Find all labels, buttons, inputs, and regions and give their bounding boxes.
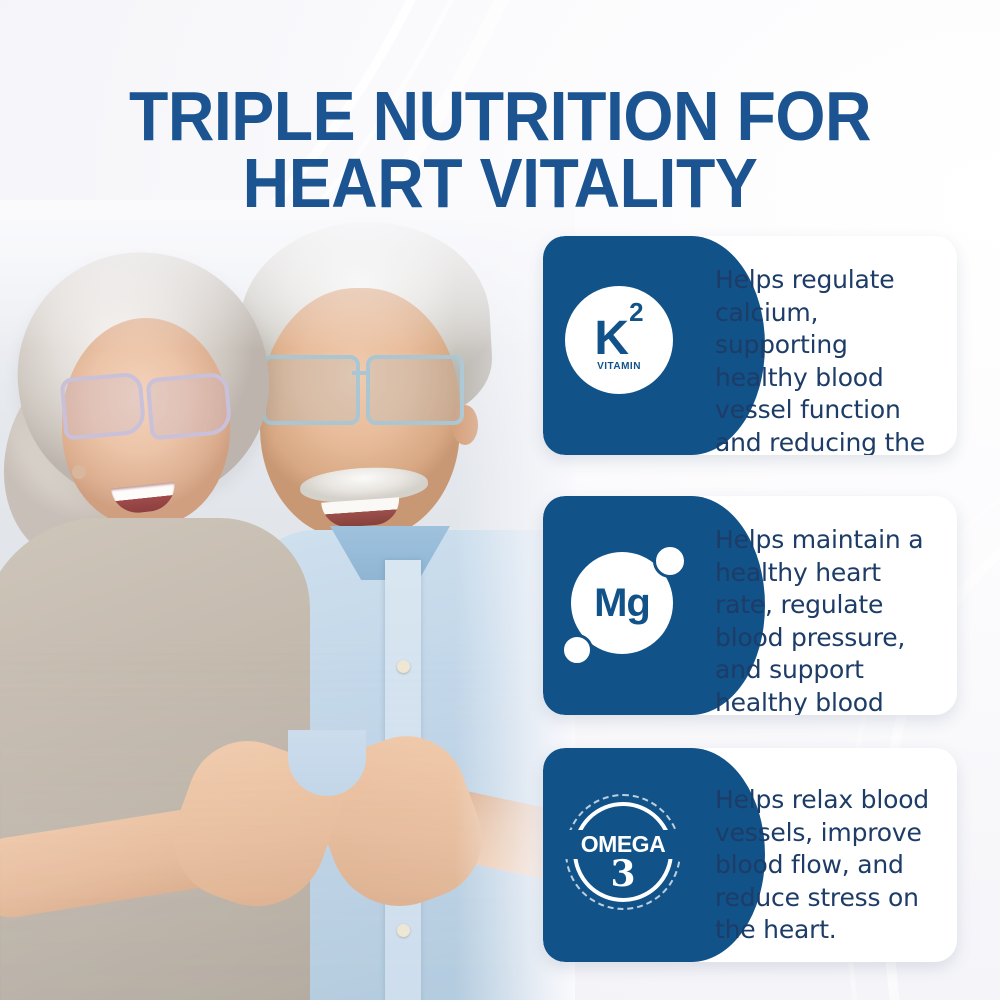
benefit-card-magnesium[interactable]: Mg Helps maintain a healthy heart rate, … [543,496,957,715]
woman-lens-left [59,372,146,441]
benefit-text-magnesium: Helps maintain a healthy heart rate, reg… [715,524,941,715]
omega-3-badge: OMEGA 3 [565,794,681,910]
molecule-dot-icon [653,544,687,578]
benefit-text-vitamin-k2: Helps regulate calcium, supporting healt… [715,264,941,455]
vitamin-k2-symbol: K2 [594,315,643,363]
benefit-card-omega-3[interactable]: OMEGA 3 Helps relax blood vessels, impro… [543,748,957,962]
couple-photo [0,200,575,1000]
woman-lens-right [145,372,232,441]
vitamin-k2-badge: K2 VITAMIN [565,286,673,394]
woman-eyeglasses [62,375,237,435]
photo-top-fade [0,200,575,350]
omega-number: 3 [565,856,681,892]
poster-canvas: TRIPLE NUTRITION FOR HEART VITALITY K2 V… [0,0,1000,1000]
page-title: TRIPLE NUTRITION FOR HEART VITALITY [40,83,960,217]
magnesium-badge: Mg [565,544,685,664]
benefit-card-vitamin-k2[interactable]: K2 VITAMIN Helps regulate calcium, suppo… [543,236,957,455]
benefit-text-omega-3: Helps relax blood vessels, improve blood… [715,784,941,947]
woman-ear [72,465,86,479]
man-lens-left [262,355,360,425]
magnesium-symbol: Mg [594,581,650,626]
k2-superscript: 2 [629,297,643,327]
title-line-2: HEART VITALITY [40,150,960,217]
man-lens-right [366,355,464,425]
k2-letter: K [594,312,629,365]
molecule-dot-icon [561,634,593,666]
vitamin-k2-circle: K2 VITAMIN [565,286,673,394]
man-eyeglasses [262,355,477,421]
man-glasses-bridge [352,371,370,375]
